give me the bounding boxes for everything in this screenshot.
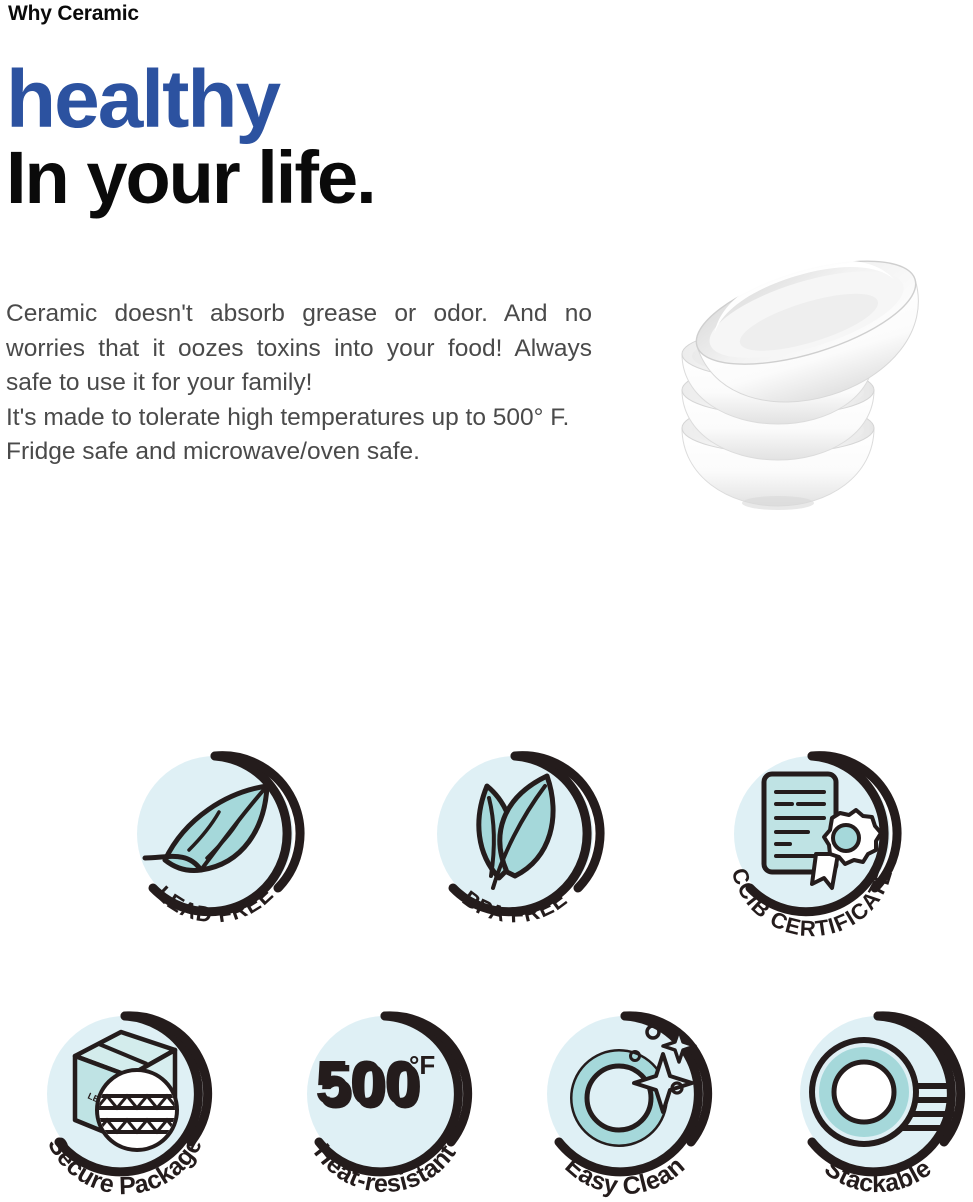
product-photo [666, 238, 966, 520]
badge-label: BPA FREE [458, 886, 572, 928]
badge-lead-free[interactable]: LEAD FREE [115, 742, 315, 942]
badge-label: Heat-resistant [308, 1139, 462, 1198]
badge-secure-package[interactable]: LE TAUO Secure Package [25, 1002, 225, 1202]
badge-ring [750, 756, 884, 912]
badge-ccib-certificate[interactable]: CCIB CERTIFICATE [712, 742, 912, 942]
two-leaves-icon [479, 776, 553, 888]
temperature-shadow: 500 [319, 1053, 422, 1122]
sparkle-ring-icon [573, 1026, 695, 1144]
badge-label: CCIB CERTIFICATE [727, 865, 898, 941]
badge-stackable[interactable]: Stackable [778, 1002, 973, 1202]
badge-circle-fill [800, 1016, 956, 1172]
badge-circle-fill [307, 1016, 463, 1172]
body-copy: Ceramic doesn't absorb grease or odor. A… [6, 297, 592, 470]
headline-main-line: In your life. [6, 141, 626, 215]
badge-ring [153, 756, 287, 912]
page-title: healthy In your life. [6, 62, 626, 215]
badge-label: Secure Package [42, 1132, 208, 1200]
body-paragraph-1: Ceramic doesn't absorb grease or odor. A… [6, 297, 592, 401]
certificate-icon [764, 774, 881, 888]
badge-circle-fill [547, 1016, 703, 1172]
badge-ring-right [625, 1016, 708, 1142]
badge-ring-right [385, 1016, 468, 1142]
badge-ring-right [878, 1016, 961, 1142]
badge-ring [59, 1016, 198, 1172]
badge-label: Easy Clean [560, 1151, 691, 1200]
headline-accent-line: healthy [6, 62, 626, 137]
stacked-plates-icon [812, 1040, 952, 1144]
leaf-icon [145, 786, 267, 871]
badge-circle-fill [437, 756, 593, 912]
box-brand-label: LE TAUO [86, 1091, 126, 1116]
badge-bpa-free[interactable]: BPA FREE [415, 742, 615, 942]
badge-label: LEAD FREE [151, 881, 278, 928]
temperature-unit: °F [409, 1050, 435, 1080]
temperature-value: 500 [315, 1049, 418, 1118]
body-paragraph-2: It's made to tolerate high temperatures … [6, 401, 592, 470]
badge-ring-right [125, 1016, 208, 1142]
page-eyebrow: Why Ceramic [8, 2, 139, 26]
badge-heat-resistant[interactable]: 500 500 °F Heat-resistant [285, 1002, 485, 1202]
badge-ring-right [515, 756, 600, 888]
temperature-text: 500 500 °F [315, 1049, 435, 1122]
badge-ring [319, 1016, 458, 1172]
badge-ring-right [215, 756, 300, 888]
badge-easy-clean[interactable]: Easy Clean [525, 1002, 725, 1202]
badge-circle-fill [137, 756, 293, 912]
badge-label: Stackable [819, 1154, 936, 1198]
badge-circle-fill [734, 756, 890, 912]
badge-ring [453, 756, 587, 912]
package-box-icon: LE TAUO [75, 1032, 177, 1150]
badge-ring [559, 1016, 698, 1172]
badge-ring-right [812, 756, 897, 888]
bowl-stack-illustration [666, 238, 966, 520]
badge-ring [812, 1016, 951, 1172]
badge-circle-fill [47, 1016, 203, 1172]
